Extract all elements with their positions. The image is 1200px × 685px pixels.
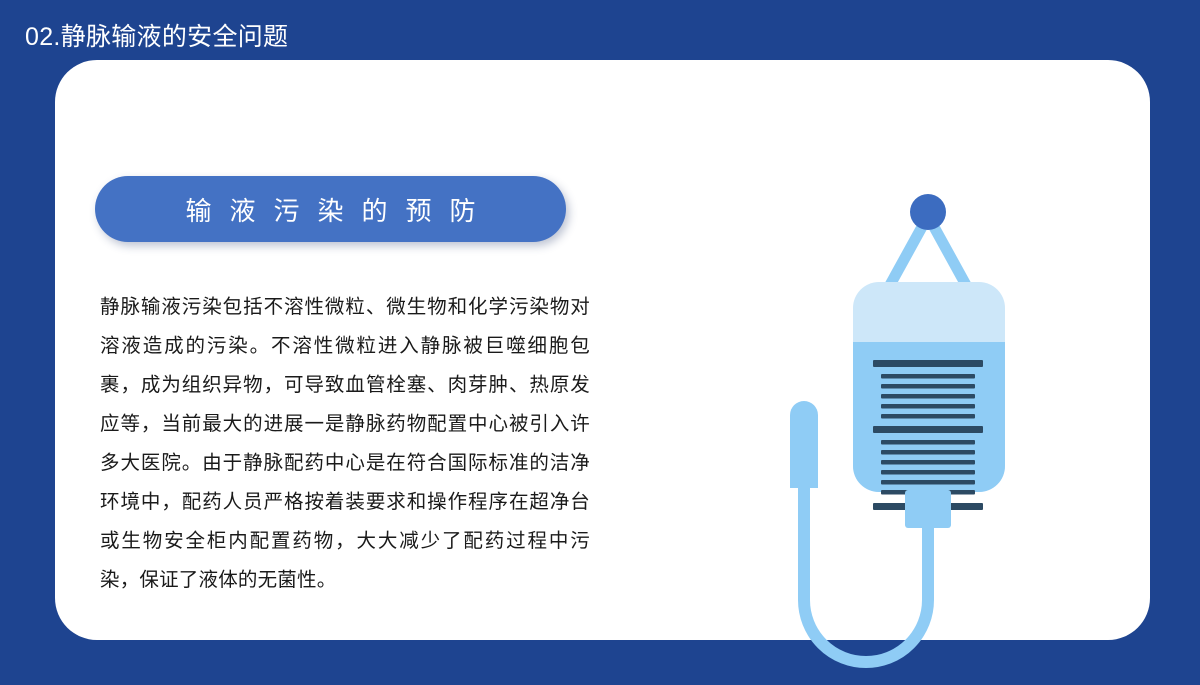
section-title-label: 输液污染的预防 — [167, 191, 493, 228]
content-card: 输液污染的预防 静脉输液污染包括不溶性微粒、微生物和化学污染物对溶液造成的污染。… — [55, 60, 1150, 640]
iv-drip-bag-illustration — [685, 120, 1085, 680]
iv-drip-chamber-icon — [790, 401, 818, 488]
iv-drip-bag-svg — [685, 120, 1085, 680]
slide-header-title: 02.静脉输液的安全问题 — [25, 19, 288, 55]
slide-root: 02.静脉输液的安全问题 输液污染的预防 静脉输液污染包括不溶性微粒、微生物和化… — [0, 0, 1200, 675]
iv-bag-hook-icon — [910, 194, 946, 230]
section-title-badge: 输液污染的预防 — [95, 176, 566, 242]
body-paragraph: 静脉输液污染包括不溶性微粒、微生物和化学污染物对溶液造成的污染。不溶性微粒进入静… — [100, 288, 590, 600]
